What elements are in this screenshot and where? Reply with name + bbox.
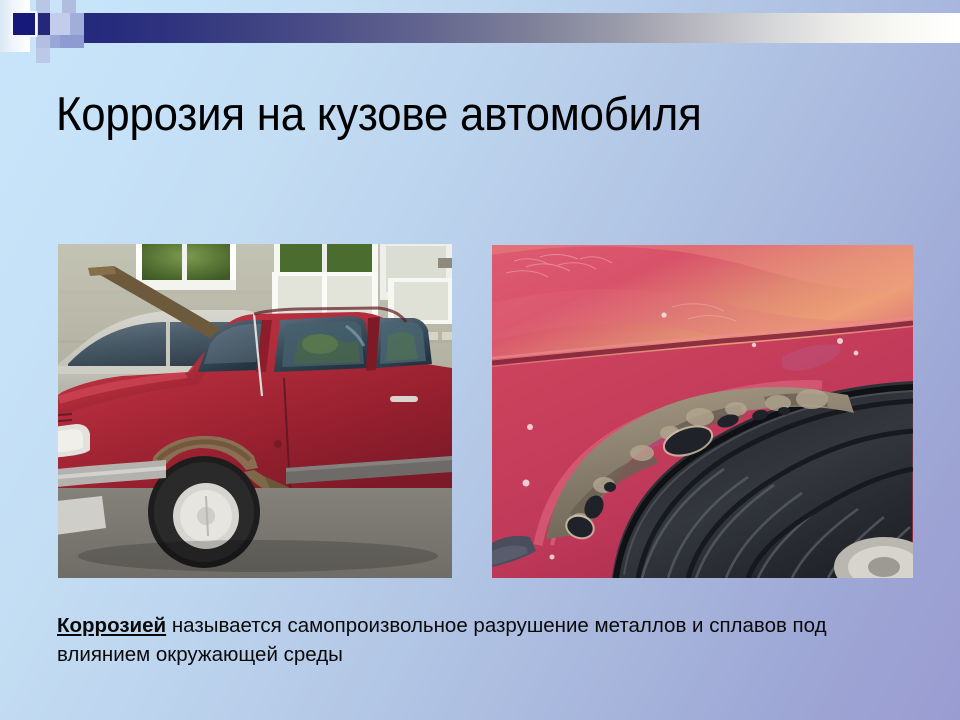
decorative-square	[36, 35, 50, 48]
red-car-photo	[58, 244, 452, 578]
decorative-square	[50, 13, 70, 35]
header-accent-band	[38, 13, 960, 43]
slide-title: Коррозия на кузове автомобиля	[56, 86, 856, 142]
decorative-accent-square	[13, 13, 35, 35]
caption-body: называется самопроизвольное разрушение м…	[57, 614, 827, 666]
red-car-photo-graphic	[58, 244, 452, 578]
decorative-square	[62, 0, 76, 13]
caption-term: Коррозией	[57, 614, 166, 637]
slide-caption: Коррозией называется самопроизвольное ра…	[57, 611, 887, 669]
rusted-wheel-arch-photo	[492, 245, 913, 578]
presentation-slide: Коррозия на кузове автомобиля	[0, 0, 960, 720]
rusted-wheel-arch-graphic	[492, 245, 913, 578]
decorative-square	[70, 13, 84, 35]
decorative-square	[36, 0, 50, 13]
decorative-square	[60, 35, 84, 48]
decorative-square	[36, 48, 50, 63]
